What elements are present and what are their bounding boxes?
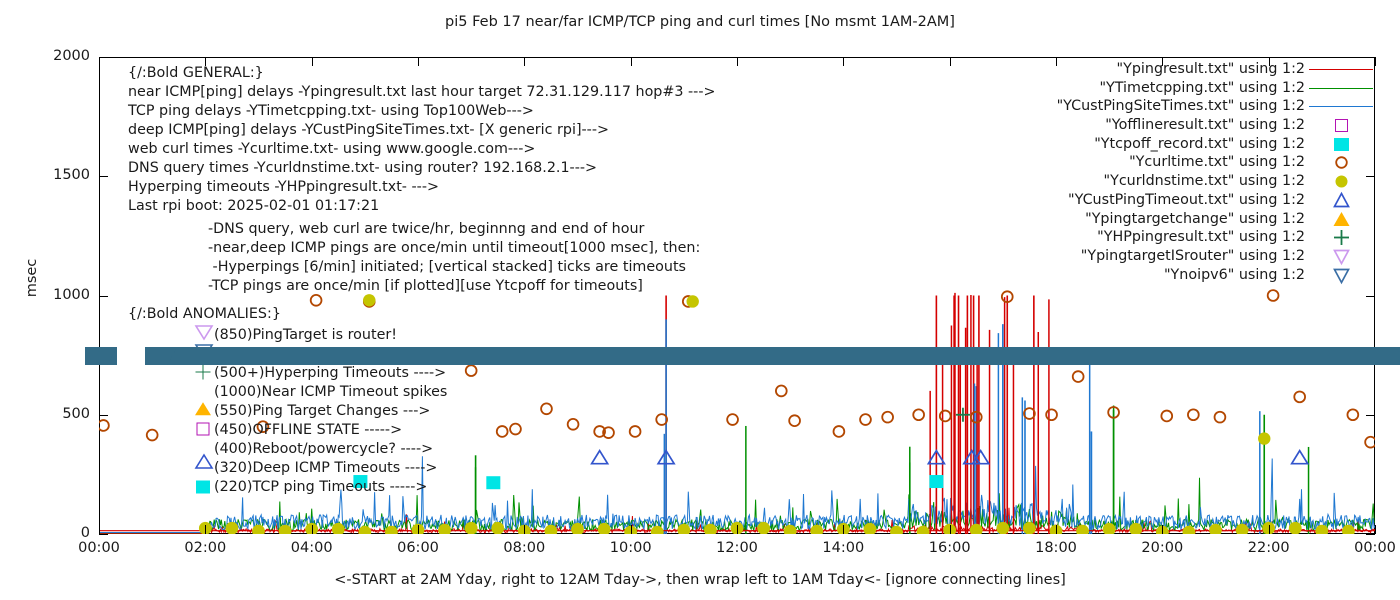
xtick-mark bbox=[418, 525, 419, 534]
marker-curldnstime bbox=[917, 526, 930, 534]
xtick-label: 18:00 bbox=[1035, 540, 1077, 556]
general-line: DNS query times -Ycurldnstime.txt- using… bbox=[128, 159, 597, 178]
plus-green-icon bbox=[196, 365, 211, 380]
marker-curltime bbox=[1215, 412, 1226, 423]
xtick-label: 20:00 bbox=[1141, 540, 1183, 556]
xtick-label: 04:00 bbox=[291, 540, 333, 556]
marker-curltime bbox=[568, 419, 579, 430]
general-detail: -DNS query, web curl are twice/hr, begin… bbox=[208, 220, 644, 239]
ytick-label: 1500 bbox=[53, 167, 90, 183]
anomalies-heading: {/:Bold ANOMALIES:} bbox=[128, 305, 281, 324]
marker-curltime bbox=[497, 426, 508, 437]
legend-row: "Ycurldnstime.txt" using 1:2 bbox=[960, 172, 1375, 191]
anomaly-text: (320)Deep ICMP Timeouts ----> bbox=[214, 459, 437, 478]
legend-key-plus bbox=[1309, 228, 1375, 247]
tri-down-violet-icon bbox=[195, 325, 213, 341]
general-line: TCP ping delays -YTimetcpping.txt- using… bbox=[128, 102, 534, 121]
marker-curltime bbox=[727, 414, 738, 425]
anomaly-text: (550)Ping Target Changes ---> bbox=[214, 402, 430, 421]
xtick-mark bbox=[1269, 525, 1270, 534]
square-cyan-icon bbox=[196, 481, 210, 494]
y-axis-label: msec bbox=[24, 238, 40, 318]
legend-row: "Ynoipv6" using 1:2 bbox=[960, 266, 1375, 285]
xtick-mark-top bbox=[843, 57, 844, 66]
legend-key-line bbox=[1309, 97, 1375, 116]
legend-row: "YTimetcpping.txt" using 1:2 bbox=[960, 79, 1375, 98]
tri-up-orange-icon bbox=[195, 402, 211, 415]
anomaly-text: (400)Reboot/powercycle? ----> bbox=[214, 440, 433, 459]
general-heading: {/:Bold GENERAL:} bbox=[128, 64, 264, 83]
xtick-label: 06:00 bbox=[397, 540, 439, 556]
xtick-label: 08:00 bbox=[503, 540, 545, 556]
legend-key-triangle-dn-open2 bbox=[1309, 266, 1375, 285]
xtick-mark bbox=[843, 525, 844, 534]
tri-up-blue-icon bbox=[195, 453, 213, 469]
marker-curltime bbox=[1188, 409, 1199, 420]
legend-label: "Ycurldnstime.txt" using 1:2 bbox=[1104, 172, 1305, 191]
legend-label: "Ynoipv6" using 1:2 bbox=[1164, 266, 1305, 285]
general-line: deep ICMP[ping] delays -YCustPingSiteTim… bbox=[128, 121, 609, 140]
legend-row: "Yofflineresult.txt" using 1:2 bbox=[960, 116, 1375, 135]
xtick-mark-top bbox=[950, 57, 951, 66]
marker-curltime bbox=[466, 365, 477, 376]
legend-label: "Ytcpoff_record.txt" using 1:2 bbox=[1094, 135, 1305, 154]
legend-key-square-open bbox=[1309, 116, 1375, 135]
legend-label: "Ypingresult.txt" using 1:2 bbox=[1117, 60, 1305, 79]
legend-key-triangle-dn-open bbox=[1309, 247, 1375, 266]
xtick-mark bbox=[524, 525, 525, 534]
xtick-mark-top bbox=[99, 57, 100, 66]
xtick-mark-top bbox=[524, 57, 525, 66]
general-detail: -Hyperpings [6/min] initiated; [vertical… bbox=[208, 258, 686, 277]
legend-row: "Ytcpoff_record.txt" using 1:2 bbox=[960, 135, 1375, 154]
marker-tcpoff bbox=[486, 476, 500, 489]
marker-curltime bbox=[940, 411, 951, 422]
legend-key-line bbox=[1309, 60, 1375, 79]
xtick-mark-top bbox=[1375, 57, 1376, 66]
xtick-label: 00:00 bbox=[1354, 540, 1396, 556]
marker-curltime bbox=[789, 415, 800, 426]
marker-curltime bbox=[630, 426, 641, 437]
marker-curltime bbox=[99, 420, 109, 431]
xtick-mark bbox=[1056, 525, 1057, 534]
marker-custpingtimeout bbox=[1292, 451, 1308, 464]
marker-curltime bbox=[1073, 371, 1084, 382]
xtick-mark-top bbox=[737, 57, 738, 66]
marker-curltime bbox=[541, 403, 552, 414]
marker-curldnstime bbox=[970, 524, 983, 534]
square-violet-icon bbox=[197, 423, 210, 436]
marker-curldnstime bbox=[686, 295, 698, 307]
marker-curltime bbox=[860, 414, 871, 425]
legend-row: "YCustPingSiteTimes.txt" using 1:2 bbox=[960, 97, 1375, 116]
xtick-mark bbox=[631, 525, 632, 534]
legend-row: "YCustPingTimeout.txt" using 1:2 bbox=[960, 191, 1375, 210]
marker-curltime bbox=[834, 426, 845, 437]
marker-curldnstime bbox=[704, 524, 717, 534]
ytick-label: 2000 bbox=[53, 48, 90, 64]
xtick-label: 16:00 bbox=[929, 540, 971, 556]
legend-row: "Ycurltime.txt" using 1:2 bbox=[960, 153, 1375, 172]
xtick-label: 02:00 bbox=[184, 540, 226, 556]
xtick-mark bbox=[1375, 525, 1376, 534]
general-detail: -near,deep ICMP pings are once/min until… bbox=[208, 239, 700, 258]
marker-custpingtimeout bbox=[592, 451, 608, 464]
legend-label: "Ycurltime.txt" using 1:2 bbox=[1129, 153, 1305, 172]
legend-label: "Ypingtargetchange" using 1:2 bbox=[1085, 210, 1305, 229]
legend-key-line bbox=[1309, 79, 1375, 98]
anomaly-text: (500+)Hyperping Timeouts ----> bbox=[214, 364, 446, 383]
legend-label: "YCustPingTimeout.txt" using 1:2 bbox=[1068, 191, 1305, 210]
marker-curldnstime bbox=[358, 526, 371, 534]
marker-curldnstime bbox=[363, 294, 375, 306]
marker-curltime bbox=[1347, 409, 1358, 420]
xtick-mark-top bbox=[312, 57, 313, 66]
legend-label: "YpingtargetISrouter" using 1:2 bbox=[1081, 247, 1305, 266]
general-detail: -TCP pings are once/min [if plotted][use… bbox=[208, 277, 643, 296]
anomaly-text: (850)PingTarget is router! bbox=[214, 326, 397, 345]
xtick-mark bbox=[1162, 525, 1163, 534]
xtick-mark-top bbox=[418, 57, 419, 66]
ytick-label: 500 bbox=[62, 406, 90, 422]
legend-row: "YpingtargetISrouter" using 1:2 bbox=[960, 247, 1375, 266]
marker-curltime bbox=[1365, 437, 1375, 448]
general-line: Last rpi boot: 2025-02-01 01:17:21 bbox=[128, 197, 379, 216]
marker-tcpoff bbox=[929, 475, 943, 488]
legend-key-circle-open bbox=[1309, 153, 1375, 172]
marker-curltime bbox=[913, 409, 924, 420]
marker-curldnstime bbox=[651, 526, 664, 534]
legend-label: "YHPpingresult.txt" using 1:2 bbox=[1097, 228, 1305, 247]
xtick-mark bbox=[205, 525, 206, 534]
marker-curltime bbox=[1046, 409, 1057, 420]
legend-key-square-filled bbox=[1309, 135, 1375, 154]
marker-curltime bbox=[147, 430, 158, 441]
general-line: near ICMP[ping] delays -Ypingresult.txt … bbox=[128, 83, 715, 102]
xtick-mark bbox=[950, 525, 951, 534]
marker-curltime bbox=[882, 412, 893, 423]
legend-row: "YHPpingresult.txt" using 1:2 bbox=[960, 228, 1375, 247]
xtick-label: 00:00 bbox=[78, 540, 120, 556]
anomaly-text: (450)OFFLINE STATE -----> bbox=[214, 421, 402, 440]
marker-curldnstime bbox=[890, 526, 903, 534]
legend-label: "YTimetcpping.txt" using 1:2 bbox=[1099, 79, 1305, 98]
legend-row: "Ypingtargetchange" using 1:2 bbox=[960, 210, 1375, 229]
xtick-mark bbox=[312, 525, 313, 534]
legend-label: "Yofflineresult.txt" using 1:2 bbox=[1105, 116, 1305, 135]
marker-curltime bbox=[1294, 391, 1305, 402]
marker-curltime bbox=[510, 424, 521, 435]
xtick-label: 10:00 bbox=[610, 540, 652, 556]
legend-row: "Ypingresult.txt" using 1:2 bbox=[960, 60, 1375, 79]
legend-key-triangle-up-open bbox=[1309, 191, 1375, 210]
marker-curltime bbox=[1161, 411, 1172, 422]
legend: "Ypingresult.txt" using 1:2"YTimetcpping… bbox=[960, 60, 1375, 284]
xtick-label: 12:00 bbox=[716, 540, 758, 556]
general-line: web curl times -Ycurltime.txt- using www… bbox=[128, 140, 535, 159]
marker-curltime bbox=[776, 386, 787, 397]
marker-curltime bbox=[311, 295, 322, 306]
xtick-label: 14:00 bbox=[822, 540, 864, 556]
xtick-mark-top bbox=[631, 57, 632, 66]
ytick-label: 0 bbox=[81, 525, 90, 541]
anomaly-text: (220)TCP ping Timeouts -----> bbox=[214, 478, 427, 497]
general-line: Hyperping timeouts -YHPpingresult.txt- -… bbox=[128, 178, 439, 197]
legend-key-triangle-up-filled bbox=[1309, 210, 1375, 229]
legend-key-circle-filled bbox=[1309, 172, 1375, 191]
legend-label: "YCustPingSiteTimes.txt" using 1:2 bbox=[1057, 97, 1305, 116]
ytick-label: 1000 bbox=[53, 287, 90, 303]
xtick-mark bbox=[99, 525, 100, 534]
page-title: pi5 Feb 17 near/far ICMP/TCP ping and cu… bbox=[0, 14, 1400, 30]
anomaly-text: (1000)Near ICMP Timeout spikes bbox=[214, 383, 447, 402]
xtick-label: 22:00 bbox=[1248, 540, 1290, 556]
marker-curltime bbox=[1268, 290, 1279, 301]
x-axis-caption: <-START at 2AM Yday, right to 12AM Tday-… bbox=[0, 572, 1400, 588]
xtick-mark bbox=[737, 525, 738, 534]
marker-curldnstime bbox=[1258, 432, 1270, 444]
